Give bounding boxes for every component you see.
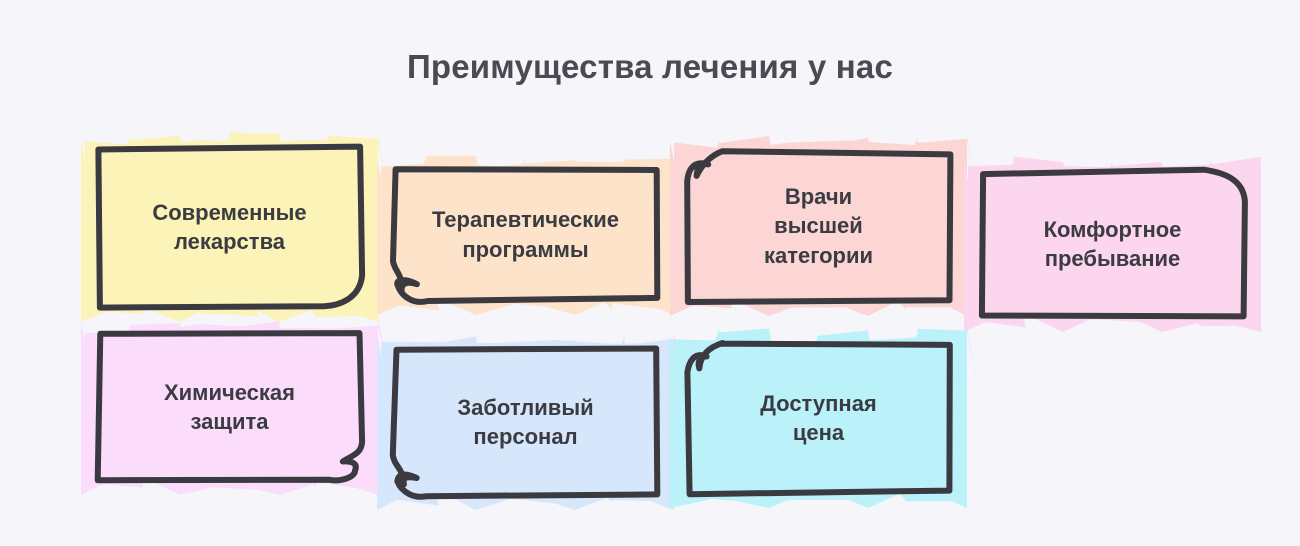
- page-title: Преимущества лечения у нас: [0, 48, 1300, 86]
- card-body-fill: [98, 333, 362, 480]
- benefit-card-terapevticheskie-programmy[interactable]: Терапевтические программы: [393, 168, 658, 301]
- benefit-card-himicheskaya-zashchita[interactable]: Химическая защита: [97, 333, 362, 481]
- card-body-fill: [687, 151, 950, 302]
- card-shape: [63, 299, 396, 515]
- card-shape: [652, 116, 985, 336]
- card-shape: [652, 308, 985, 528]
- card-body-fill: [98, 147, 362, 308]
- card-body-fill: [393, 169, 657, 302]
- benefit-card-sovremennye-lekarstva[interactable]: Современные лекарства: [97, 146, 362, 308]
- benefit-card-zabotlivyy-personal[interactable]: Заботливый персонал: [393, 348, 658, 496]
- card-body-fill: [393, 349, 658, 497]
- infographic-canvas: Преимущества лечения у нас Современные л…: [0, 0, 1300, 546]
- card-shape: [359, 134, 692, 335]
- benefit-card-dostupnaya-cena[interactable]: Доступная цена: [686, 342, 951, 494]
- card-body-fill: [687, 343, 949, 494]
- card-body-fill: [982, 170, 1245, 317]
- benefit-card-komfortnoe-prebyvanie[interactable]: Комфортное пребывание: [980, 170, 1245, 318]
- benefit-card-vrachi-vysshey-kategorii[interactable]: Врачи высшей категории: [686, 150, 951, 302]
- card-shape: [359, 314, 692, 530]
- card-shape: [946, 136, 1279, 352]
